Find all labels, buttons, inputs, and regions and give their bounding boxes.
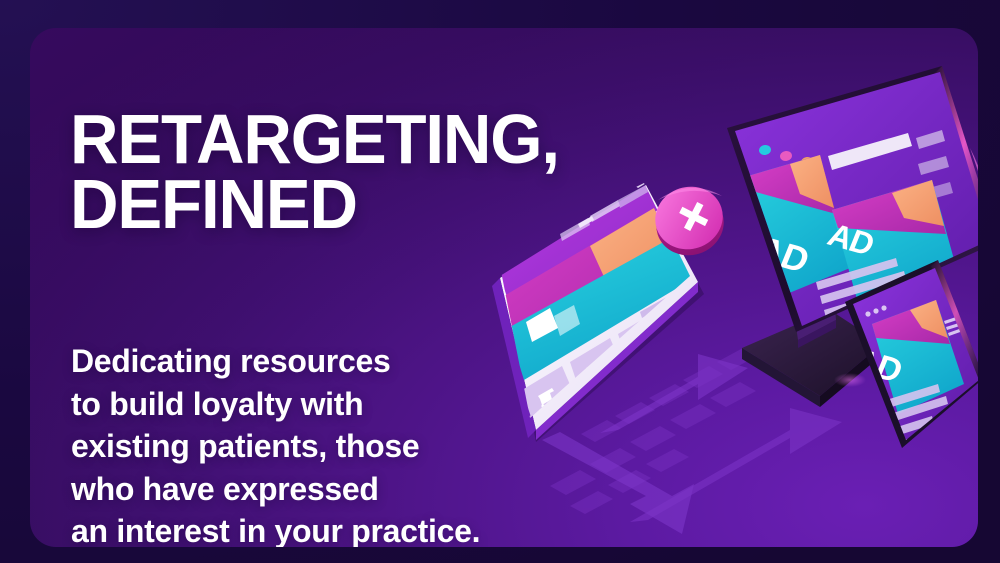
content-panel: AD AD — [30, 28, 978, 547]
page-subtitle: Dedicating resources to build loyalty wi… — [71, 340, 591, 547]
poster-canvas: AD AD — [0, 0, 1000, 563]
smartphone: 10:30 AD — [845, 260, 978, 492]
page-title: RETARGETING, DEFINED — [70, 107, 665, 237]
